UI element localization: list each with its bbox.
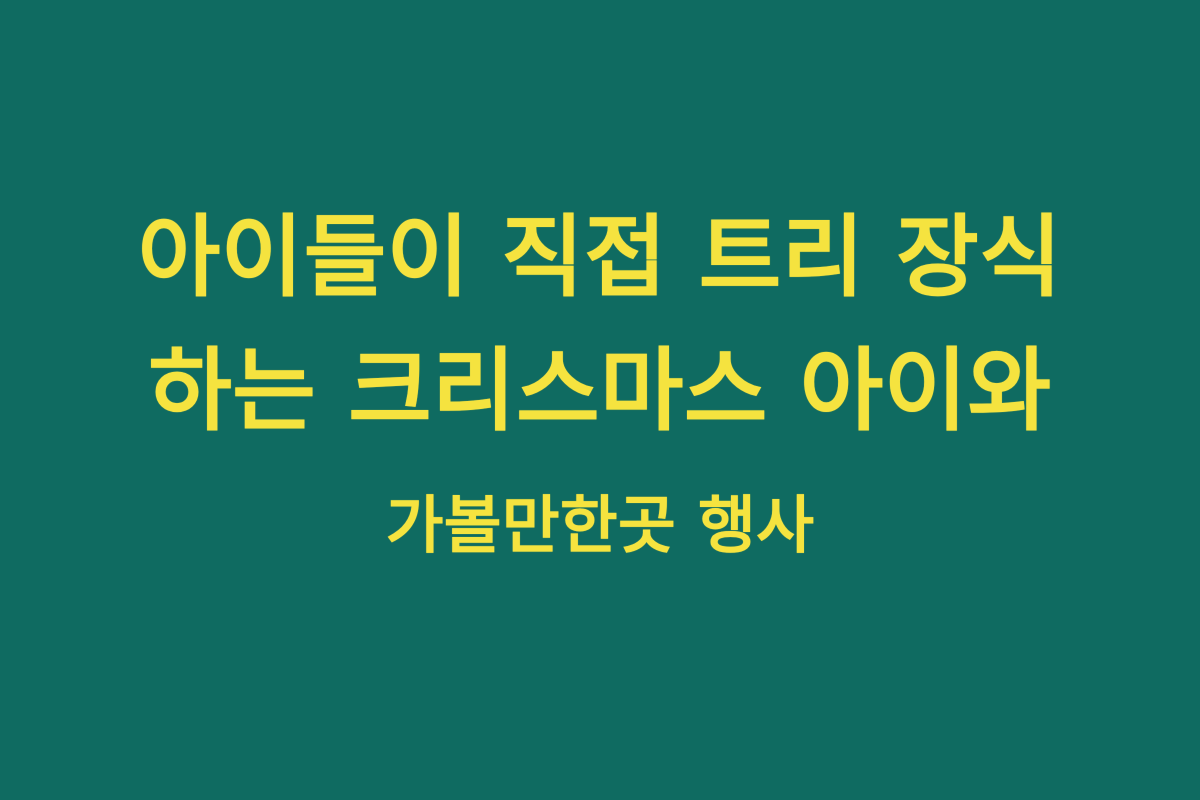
headline-block: 아이들이 직접 트리 장식 하는 크리스마스 아이와 가볼만한곳 행사: [20, 191, 1180, 593]
headline-line-1: 아이들이 직접 트리 장식: [20, 191, 1180, 325]
headline-line-3: 가볼만한곳 행사: [20, 459, 1180, 593]
headline-line-2: 하는 크리스마스 아이와: [20, 325, 1180, 459]
poster-canvas: 아이들이 직접 트리 장식 하는 크리스마스 아이와 가볼만한곳 행사: [0, 0, 1200, 800]
